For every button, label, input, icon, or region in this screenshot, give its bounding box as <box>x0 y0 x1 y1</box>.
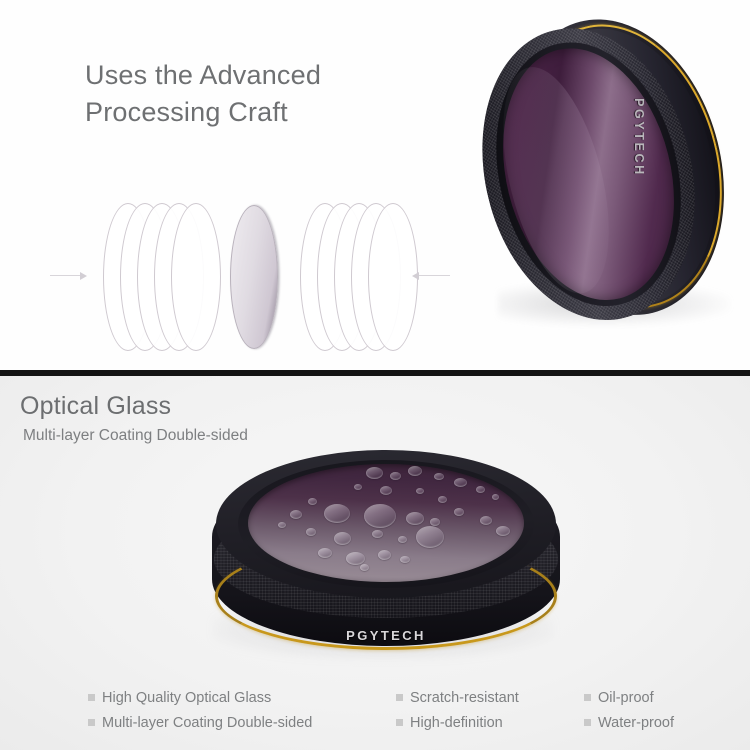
feature-item: Oil-proof <box>584 685 674 710</box>
feature-item: Water-proof <box>584 710 674 735</box>
water-droplet <box>390 472 401 480</box>
feature-item: High Quality Optical Glass <box>88 685 312 710</box>
feature-label: Water-proof <box>598 715 674 731</box>
lens-filter-topdown-photo: PGYTECH <box>192 430 580 670</box>
water-droplet <box>366 467 383 479</box>
water-droplet <box>372 530 383 538</box>
arrow-shaft <box>50 275 82 276</box>
brand-label: PGYTECH <box>632 98 646 177</box>
water-droplet <box>480 516 492 525</box>
water-droplet <box>364 504 396 528</box>
top-section-heading: Uses the Advanced Processing Craft <box>85 57 321 131</box>
feature-column: Scratch-resistant High-definition <box>396 685 519 735</box>
water-droplet <box>416 526 444 548</box>
water-droplet <box>360 564 369 571</box>
feature-column: High Quality Optical Glass Multi-layer C… <box>88 685 312 735</box>
coating-layers-diagram <box>55 185 455 370</box>
water-droplet <box>476 486 485 493</box>
feature-list: High Quality Optical Glass Multi-layer C… <box>0 685 750 747</box>
feature-label: Multi-layer Coating Double-sided <box>102 715 312 731</box>
advanced-processing-section: Uses the Advanced Processing Craft <box>0 0 750 372</box>
bullet-square-icon <box>584 694 591 701</box>
water-droplet <box>454 478 467 487</box>
optical-glass-disc <box>230 205 278 349</box>
brand-label: PGYTECH <box>346 628 426 643</box>
arrow-right-icon <box>50 275 88 277</box>
feature-item: Multi-layer Coating Double-sided <box>88 710 312 735</box>
water-droplet <box>454 508 464 516</box>
water-droplet <box>378 550 391 560</box>
feature-label: High-definition <box>410 715 503 731</box>
water-droplet <box>434 473 444 480</box>
water-droplet <box>492 494 499 500</box>
water-droplet <box>290 510 302 519</box>
feature-item: Scratch-resistant <box>396 685 519 710</box>
bottom-section-heading: Optical Glass <box>20 392 171 421</box>
filter-body: PGYTECH <box>445 0 750 360</box>
coating-layer <box>368 203 418 351</box>
water-droplet <box>400 556 410 563</box>
arrow-shaft <box>418 275 450 276</box>
water-droplet <box>430 518 440 526</box>
arrow-head <box>80 272 87 280</box>
water-droplet <box>308 498 317 505</box>
water-droplet <box>306 528 316 536</box>
water-droplet <box>408 466 422 476</box>
bullet-square-icon <box>88 719 95 726</box>
feature-item: High-definition <box>396 710 519 735</box>
bullet-square-icon <box>396 694 403 701</box>
water-droplet <box>278 522 286 528</box>
purple-glass-element <box>248 464 524 582</box>
arrow-left-icon <box>412 275 450 277</box>
water-droplet <box>398 536 407 543</box>
water-droplet <box>406 512 424 525</box>
water-droplet <box>438 496 447 503</box>
water-droplet <box>324 504 350 523</box>
bullet-square-icon <box>584 719 591 726</box>
arrow-head <box>412 272 419 280</box>
water-droplet <box>496 526 510 536</box>
optical-glass-section: Optical Glass Multi-layer Coating Double… <box>0 376 750 750</box>
feature-label: High Quality Optical Glass <box>102 690 271 706</box>
lens-filter-angled-photo: PGYTECH <box>480 14 750 344</box>
feature-column: Oil-proof Water-proof <box>584 685 674 735</box>
feature-label: Scratch-resistant <box>410 690 519 706</box>
product-marketing-image: Uses the Advanced Processing Craft <box>0 0 750 750</box>
water-droplet <box>318 548 332 558</box>
bullet-square-icon <box>396 719 403 726</box>
water-droplet <box>354 484 362 490</box>
bullet-square-icon <box>88 694 95 701</box>
feature-label: Oil-proof <box>598 690 654 706</box>
water-droplet <box>346 552 365 565</box>
water-droplet <box>416 488 424 494</box>
water-droplet <box>334 532 351 545</box>
water-droplet <box>380 486 392 495</box>
coating-layer <box>171 203 221 351</box>
